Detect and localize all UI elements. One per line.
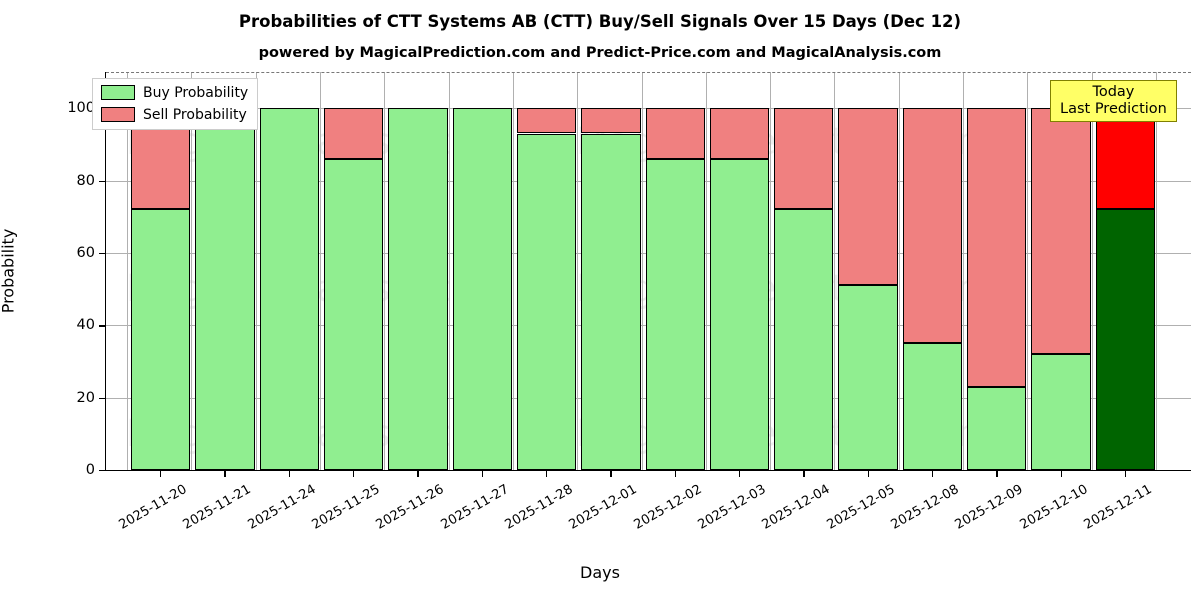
gridline-vertical <box>320 72 321 470</box>
legend-item[interactable]: Buy Probability <box>101 84 248 101</box>
y-tick-label: 20 <box>55 390 95 406</box>
x-tick-mark <box>675 471 676 477</box>
today-annotation: Today Last Prediction <box>1050 80 1177 122</box>
bar-segment-sell[interactable] <box>710 108 769 159</box>
x-tick-mark <box>160 471 161 477</box>
y-tick-label: 80 <box>55 173 95 189</box>
gridline-vertical <box>1027 72 1028 470</box>
legend-label: Buy Probability <box>143 85 248 101</box>
y-axis-label: Probability <box>0 229 18 314</box>
bar-group[interactable] <box>195 72 254 470</box>
x-tick-mark <box>996 471 997 477</box>
bar-group[interactable] <box>967 72 1026 470</box>
x-tick-mark <box>932 471 933 477</box>
bar-segment-buy[interactable] <box>195 108 254 470</box>
x-tick-mark <box>1125 471 1126 477</box>
bar-segment-sell[interactable] <box>324 108 383 159</box>
bar-segment-buy[interactable] <box>260 108 319 470</box>
y-tick-label: 100 <box>55 100 95 116</box>
bar-segment-sell[interactable] <box>517 108 576 133</box>
bar-segment-sell[interactable] <box>967 108 1026 387</box>
bar-segment-buy[interactable] <box>774 209 833 470</box>
gridline-vertical <box>642 72 643 470</box>
bar-segment-buy[interactable] <box>1096 209 1155 470</box>
x-tick-mark <box>353 471 354 477</box>
x-tick-mark <box>224 471 225 477</box>
x-tick-mark <box>417 471 418 477</box>
gridline-vertical <box>770 72 771 470</box>
bar-group[interactable] <box>131 72 190 470</box>
bar-segment-sell[interactable] <box>581 108 640 133</box>
gridline-vertical <box>256 72 257 470</box>
chart-title: Probabilities of CTT Systems AB (CTT) Bu… <box>0 12 1200 31</box>
gridline-vertical <box>577 72 578 470</box>
bar-segment-buy[interactable] <box>324 159 383 470</box>
bar-group[interactable] <box>774 72 833 470</box>
legend-label: Sell Probability <box>143 107 247 123</box>
bar-segment-sell[interactable] <box>903 108 962 343</box>
bar-segment-buy[interactable] <box>710 159 769 470</box>
gridline-vertical <box>899 72 900 470</box>
chart-subtitle: powered by MagicalPrediction.com and Pre… <box>0 45 1200 61</box>
x-tick-mark <box>803 471 804 477</box>
bar-segment-buy[interactable] <box>453 108 512 470</box>
bar-group[interactable] <box>1096 72 1155 470</box>
x-axis-label: Days <box>0 563 1200 582</box>
bar-group[interactable] <box>453 72 512 470</box>
x-tick-mark <box>546 471 547 477</box>
bar-group[interactable] <box>581 72 640 470</box>
gridline-vertical <box>1092 72 1093 470</box>
bar-segment-buy[interactable] <box>581 134 640 470</box>
bar-segment-buy[interactable] <box>388 108 447 470</box>
legend-swatch <box>101 107 135 122</box>
gridline-vertical <box>127 72 128 470</box>
chart-figure: Probabilities of CTT Systems AB (CTT) Bu… <box>0 0 1200 600</box>
gridline-vertical <box>963 72 964 470</box>
bar-group[interactable] <box>1031 72 1090 470</box>
x-tick-mark <box>1061 471 1062 477</box>
y-tick-label: 0 <box>55 462 95 478</box>
gridline-vertical <box>706 72 707 470</box>
gridline-vertical <box>513 72 514 470</box>
x-tick-mark <box>482 471 483 477</box>
bar-segment-buy[interactable] <box>131 209 190 470</box>
bar-group[interactable] <box>903 72 962 470</box>
bar-segment-sell[interactable] <box>838 108 897 285</box>
legend-item[interactable]: Sell Probability <box>101 106 248 123</box>
today-annotation-line2: Last Prediction <box>1060 101 1167 118</box>
gridline-vertical <box>834 72 835 470</box>
bar-group[interactable] <box>838 72 897 470</box>
x-tick-mark <box>868 471 869 477</box>
x-tick-mark <box>289 471 290 477</box>
y-tick-label: 60 <box>55 245 95 261</box>
bar-segment-buy[interactable] <box>517 134 576 470</box>
bar-group[interactable] <box>388 72 447 470</box>
x-tick-mark <box>610 471 611 477</box>
today-annotation-line1: Today <box>1060 84 1167 101</box>
x-tick-mark <box>739 471 740 477</box>
bar-group[interactable] <box>517 72 576 470</box>
bar-group[interactable] <box>710 72 769 470</box>
gridline-vertical <box>1156 72 1157 470</box>
bar-segment-sell[interactable] <box>646 108 705 159</box>
y-tick-label: 40 <box>55 317 95 333</box>
legend-swatch <box>101 85 135 100</box>
gridline-vertical <box>191 72 192 470</box>
bar-segment-buy[interactable] <box>838 285 897 470</box>
bar-group[interactable] <box>646 72 705 470</box>
gridline-vertical <box>384 72 385 470</box>
plot-area: MagicalAnalysis.comMagicalPrediction.com… <box>105 72 1191 471</box>
bar-segment-sell[interactable] <box>1096 108 1155 209</box>
chart-legend: Buy ProbabilitySell Probability <box>92 78 258 130</box>
gridline-vertical <box>449 72 450 470</box>
bar-segment-buy[interactable] <box>903 343 962 470</box>
bar-group[interactable] <box>260 72 319 470</box>
bar-group[interactable] <box>324 72 383 470</box>
plot-inner: MagicalAnalysis.comMagicalPrediction.com… <box>106 72 1191 470</box>
bar-segment-buy[interactable] <box>1031 354 1090 470</box>
bar-segment-sell[interactable] <box>774 108 833 209</box>
bar-segment-buy[interactable] <box>646 159 705 470</box>
bar-segment-buy[interactable] <box>967 387 1026 470</box>
bar-segment-sell[interactable] <box>1031 108 1090 354</box>
